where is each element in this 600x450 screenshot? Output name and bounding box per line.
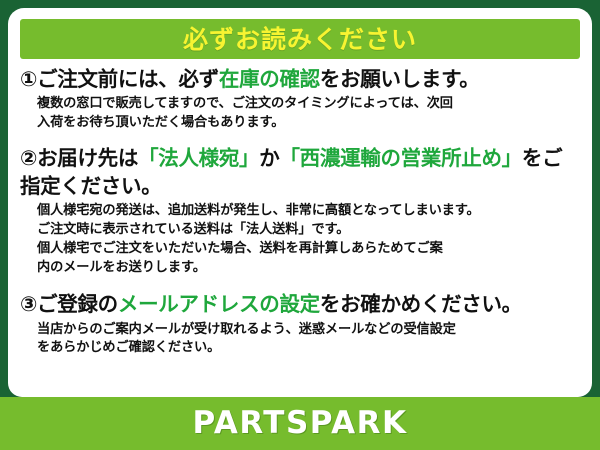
notice-item-1: ①ご注文前には、必ず在庫の確認をお願いします。 複数の窓口で販売してますので、ご… <box>8 65 592 133</box>
notice-item-1-marker: ① <box>20 67 37 91</box>
header-bar: 必ずお読みください <box>20 19 580 59</box>
notice-item-3-headline-accent: メールアドレスの設定 <box>118 292 320 316</box>
notice-item-1-body-line-1: 入荷をお待ち頂いただく場合もあります。 <box>37 114 582 133</box>
notice-item-1-body-line-0: 複数の窓口で販売してますので、ご注文のタイミングによっては、次回 <box>37 95 582 114</box>
notice-item-list: ①ご注文前には、必ず在庫の確認をお願いします。 複数の窓口で販売してますので、ご… <box>8 65 592 358</box>
notice-item-1-body: 複数の窓口で販売してますので、ご注文のタイミングによっては、次回 入荷をお待ち頂… <box>20 95 582 132</box>
notice-item-2-body: 個人様宅宛の発送は、追加送料が発生し、非常に高額となってしまいます。 ご注文時に… <box>20 202 582 277</box>
notice-item-1-headline-part-2: をお願いします。 <box>320 67 480 91</box>
notice-item-3-body-line-0: 当店からのご案内メールが受け取れるよう、迷惑メールなどの受信設定 <box>37 321 582 340</box>
notice-item-2-marker: ② <box>20 146 37 170</box>
notice-item-2-body-line-1: ご注文時に表示されている送料は「法人送料」です。 <box>37 221 582 240</box>
notice-item-2-headline-part-0: お届け先は <box>37 146 138 170</box>
page-title: 必ずお読みください <box>183 27 417 52</box>
content-panel: 必ずお読みください ①ご注文前には、必ず在庫の確認をお願いします。 複数の窓口で… <box>8 8 592 397</box>
notice-item-3-marker: ③ <box>20 292 37 316</box>
notice-item-2-headline-part-2: か <box>259 146 279 170</box>
notice-item-2-headline: ②お届け先は「法人様宛」か「西濃運輸の営業所止め」をご指定ください。 <box>20 144 582 201</box>
notice-item-2-body-line-0: 個人様宅宛の発送は、追加送料が発生し、非常に高額となってしまいます。 <box>37 202 582 221</box>
notice-item-3-body: 当店からのご案内メールが受け取れるよう、迷惑メールなどの受信設定 をあらかじめご… <box>20 321 582 358</box>
footer-bar: PARTSPARK <box>0 397 600 450</box>
brand-logo: PARTSPARK <box>192 408 407 439</box>
notice-banner: 必ずお読みください ①ご注文前には、必ず在庫の確認をお願いします。 複数の窓口で… <box>0 0 600 450</box>
notice-item-2-headline-accent-2: 「西濃運輸の営業所止め」 <box>279 146 521 170</box>
notice-item-3-headline: ③ご登録のメールアドレスの設定をお確かめください。 <box>20 290 582 318</box>
notice-item-2: ②お届け先は「法人様宛」か「西濃運輸の営業所止め」をご指定ください。 個人様宅宛… <box>8 144 592 278</box>
notice-item-1-headline: ①ご注文前には、必ず在庫の確認をお願いします。 <box>20 65 582 93</box>
notice-item-3: ③ご登録のメールアドレスの設定をお確かめください。 当店からのご案内メールが受け… <box>8 290 592 358</box>
notice-item-1-headline-accent: 在庫の確認 <box>219 67 320 91</box>
notice-item-2-body-line-2: 個人様宅でご注文をいただいた場合、送料を再計算しあらためてご案 <box>37 240 582 259</box>
notice-item-3-headline-part-0: ご登録の <box>37 292 118 316</box>
notice-item-2-headline-accent-1: 「法人様宛」 <box>138 146 259 170</box>
notice-item-2-body-line-3: 内のメールをお送りします。 <box>37 259 582 278</box>
notice-item-3-headline-part-2: をお確かめください。 <box>320 292 522 316</box>
notice-item-3-body-line-1: をあらかじめご確認ください。 <box>37 339 582 358</box>
notice-item-1-headline-part-0: ご注文前には、必ず <box>37 67 219 91</box>
